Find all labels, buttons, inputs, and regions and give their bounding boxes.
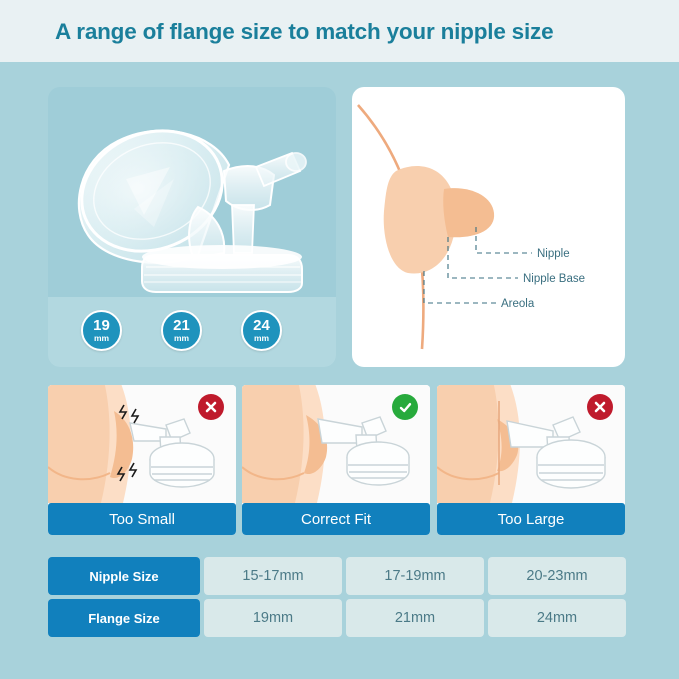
- table-row-header: Nipple Size: [48, 557, 200, 595]
- fit-card-label: Too Small: [48, 503, 236, 535]
- fit-card-too-large[interactable]: Too Large: [437, 385, 625, 535]
- flange-connector: [224, 153, 306, 253]
- fit-card-correct-fit[interactable]: Correct Fit: [242, 385, 430, 535]
- flange-base: [142, 245, 302, 292]
- size-badge-19mm[interactable]: 19 mm: [81, 310, 122, 351]
- flange-illustration: [48, 87, 336, 295]
- size-badge-unit: mm: [254, 334, 269, 343]
- table-cell: 21mm: [346, 599, 484, 637]
- fit-card-label: Too Large: [437, 503, 625, 535]
- table-row: Nipple Size 15-17mm 17-19mm 20-23mm: [48, 557, 626, 595]
- cross-icon: [587, 394, 613, 420]
- anatomy-label-areola: Areola: [501, 298, 535, 310]
- size-badge-unit: mm: [174, 334, 189, 343]
- anatomy-label-nipple: Nipple: [537, 248, 570, 260]
- table-cell: 20-23mm: [488, 557, 626, 595]
- size-badge-number: 21: [173, 318, 190, 333]
- page-header: A range of flange size to match your nip…: [0, 0, 679, 62]
- size-badge-strip: 19 mm 21 mm 24 mm: [48, 297, 336, 367]
- size-badge-21mm[interactable]: 21 mm: [161, 310, 202, 351]
- size-badge-24mm[interactable]: 24 mm: [241, 310, 282, 351]
- fit-card-label: Correct Fit: [242, 503, 430, 535]
- fit-card-too-small[interactable]: Too Small: [48, 385, 236, 535]
- size-badge-unit: mm: [94, 334, 109, 343]
- content-stage: 19 mm 21 mm 24 mm: [0, 62, 679, 679]
- size-badge-number: 19: [93, 318, 110, 333]
- table-cell: 15-17mm: [204, 557, 342, 595]
- cross-icon: [198, 394, 224, 420]
- table-row: Flange Size 19mm 21mm 24mm: [48, 599, 626, 637]
- size-reference-table: Nipple Size 15-17mm 17-19mm 20-23mm Flan…: [48, 557, 626, 641]
- table-cell: 17-19mm: [346, 557, 484, 595]
- table-row-header: Flange Size: [48, 599, 200, 637]
- anatomy-label-nipple-base: Nipple Base: [523, 273, 585, 285]
- page-title: A range of flange size to match your nip…: [55, 19, 553, 45]
- product-panel: 19 mm 21 mm 24 mm: [48, 87, 336, 367]
- table-cell: 24mm: [488, 599, 626, 637]
- anatomy-panel: Nipple Nipple Base Areola: [352, 87, 625, 367]
- size-badge-number: 24: [253, 318, 270, 333]
- table-cell: 19mm: [204, 599, 342, 637]
- breast-anatomy-diagram: Nipple Nipple Base Areola: [352, 87, 625, 367]
- check-icon: [392, 394, 418, 420]
